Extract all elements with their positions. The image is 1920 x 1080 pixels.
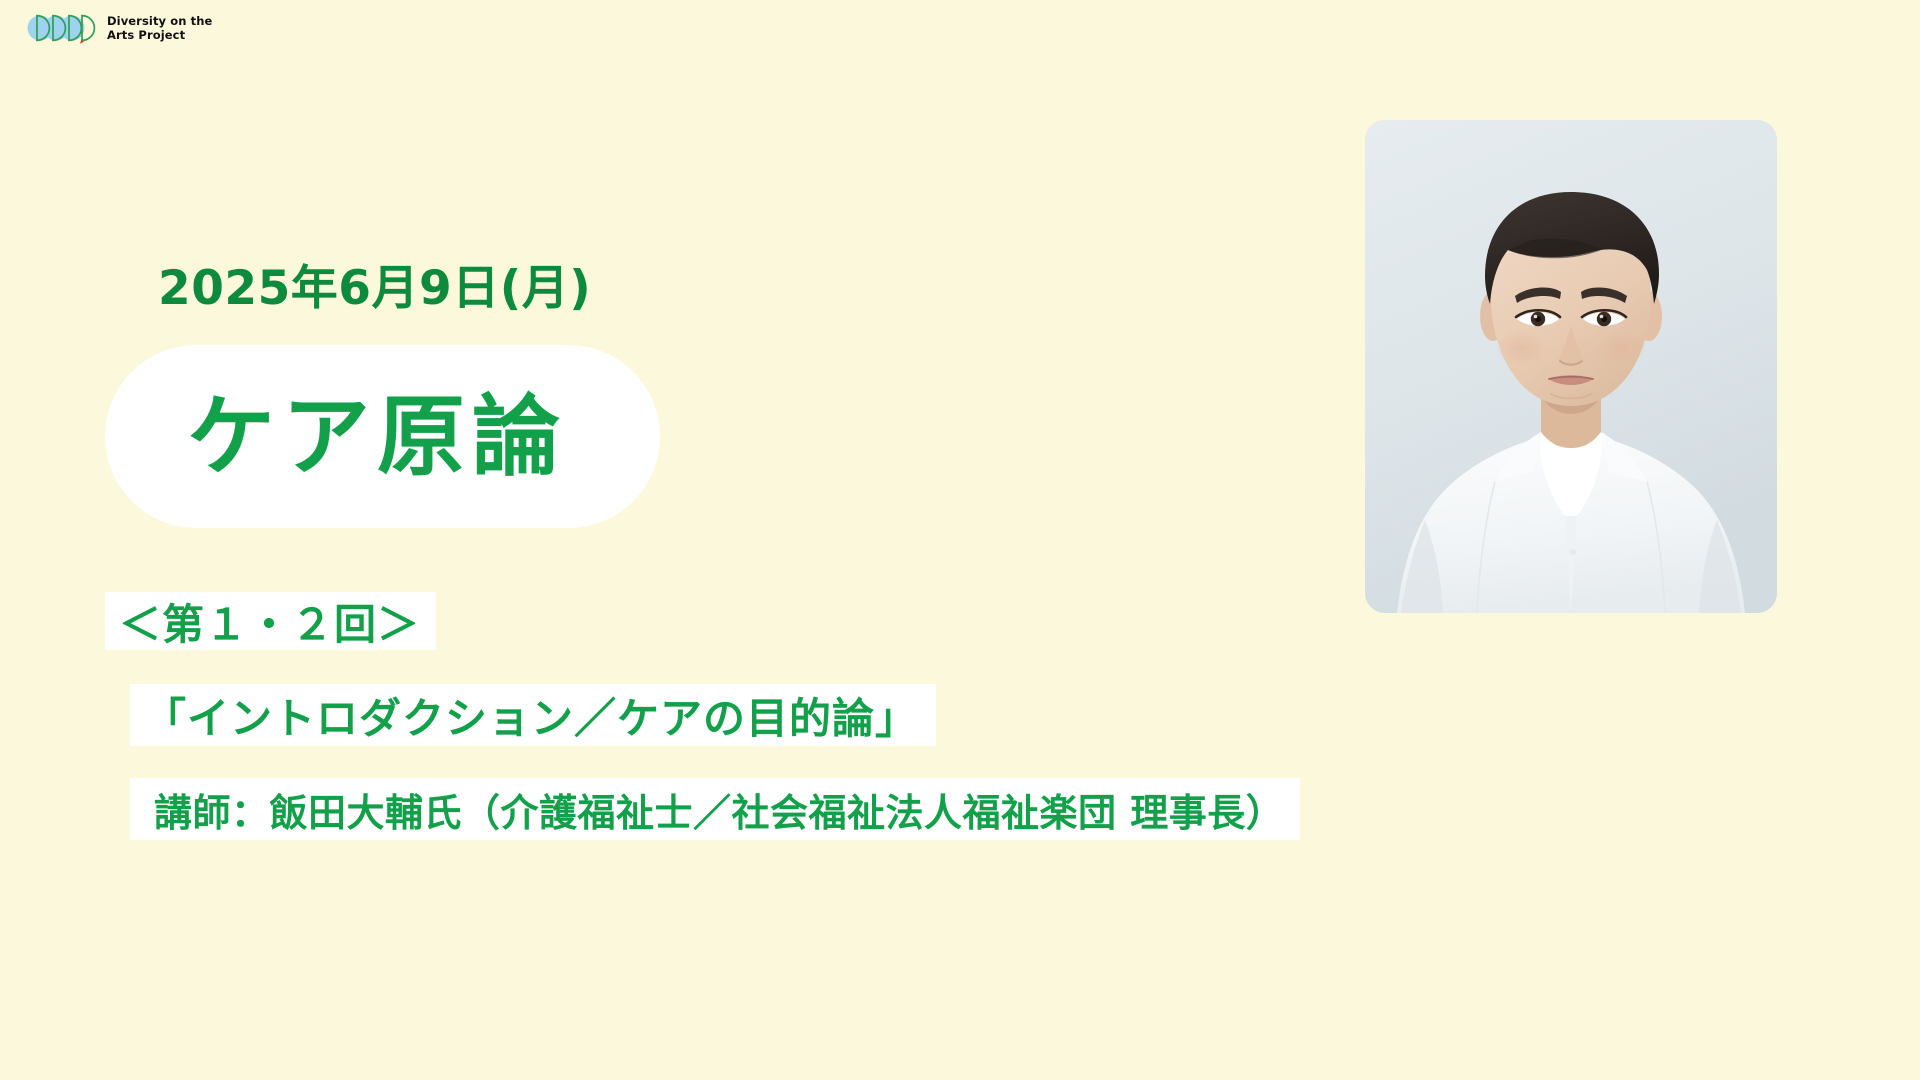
page-title: ケア原論 — [187, 393, 567, 481]
lecturer-portrait — [1365, 120, 1777, 613]
lecturer-credit: 講師：飯田大輔氏（介護福祉士／社会福祉法人福祉楽団 理事長） — [130, 778, 1300, 840]
title-slide: Diversity on the Arts Project — [0, 0, 1920, 1080]
episode-label: ＜第１・２回＞ — [105, 592, 436, 650]
event-date: 2025年6月9日(月) — [158, 265, 591, 312]
brand-logo-text: Diversity on the Arts Project — [107, 15, 212, 42]
diversity-on-the-arts-project-logo-icon — [26, 12, 98, 46]
session-subtitle: 「イントロダクション／ケアの目的論」 — [130, 684, 936, 746]
brand-logo: Diversity on the Arts Project — [26, 12, 212, 46]
title-pill: ケア原論 — [105, 345, 660, 528]
